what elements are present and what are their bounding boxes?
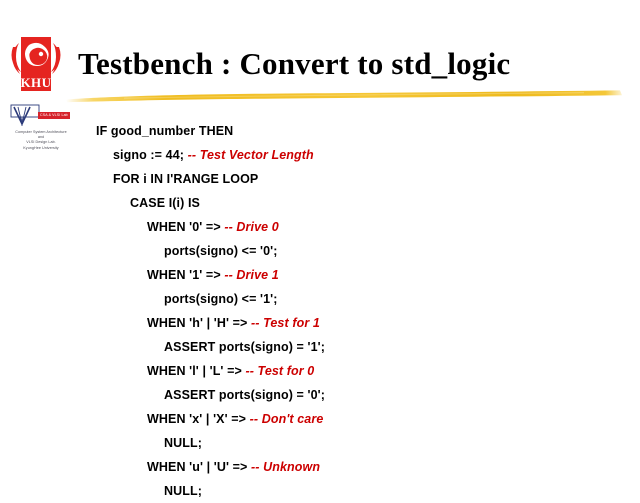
code-line: NULL; (96, 431, 616, 455)
code-text: WHEN 'h' | 'H' => (147, 316, 251, 330)
code-text: ports(signo) <= '1'; (164, 292, 278, 306)
khu-logo: KHU (9, 33, 71, 95)
code-line: WHEN 'x' | 'X' => -- Don't care (96, 407, 616, 431)
code-text: ASSERT ports(signo) = '0'; (164, 388, 325, 402)
lab-mark-icon: CSA & VLSI Lab (8, 104, 70, 128)
code-line: CASE I(i) IS (96, 191, 616, 215)
svg-text:KHU: KHU (20, 75, 51, 90)
code-line: WHEN 'l' | 'L' => -- Test for 0 (96, 359, 616, 383)
lab-logo: CSA & VLSI Lab Computer System Architect… (8, 104, 74, 154)
slide-canvas: KHU CSA & VLSI Lab Computer System Archi… (0, 0, 640, 480)
code-text: NULL; (164, 436, 202, 450)
code-line: ports(signo) <= '1'; (96, 287, 616, 311)
lab-caption-line-4: KyungHee University (8, 146, 74, 151)
title-underline-rule (64, 88, 626, 103)
code-line: ASSERT ports(signo) = '0'; (96, 383, 616, 407)
code-text: ports(signo) <= '0'; (164, 244, 278, 258)
code-comment: -- Unknown (251, 460, 320, 474)
code-line: ASSERT ports(signo) = '1'; (96, 335, 616, 359)
code-text: WHEN '1' => (147, 268, 224, 282)
code-line: ports(signo) <= '0'; (96, 239, 616, 263)
code-text: NULL; (164, 484, 202, 498)
slide-title: Testbench : Convert to std_logic (78, 45, 628, 83)
code-block: IF good_number THEN signo := 44; -- Test… (96, 119, 616, 503)
code-line: WHEN 'h' | 'H' => -- Test for 1 (96, 311, 616, 335)
code-line: WHEN '0' => -- Drive 0 (96, 215, 616, 239)
code-comment: -- Test for 0 (245, 364, 314, 378)
code-comment: -- Don't care (250, 412, 324, 426)
lab-caption: Computer System Architecture and VLSI De… (8, 130, 74, 151)
code-text: CASE I(i) IS (130, 196, 200, 210)
code-text: ASSERT ports(signo) = '1'; (164, 340, 325, 354)
code-comment: -- Test for 1 (251, 316, 320, 330)
code-line: signo := 44; -- Test Vector Length (96, 143, 616, 167)
code-text: FOR i IN I'RANGE LOOP (113, 172, 258, 186)
khu-emblem-icon: KHU (9, 33, 71, 95)
code-text: WHEN 'u' | 'U' => (147, 460, 251, 474)
code-line: IF good_number THEN (96, 119, 616, 143)
code-line: WHEN '1' => -- Drive 1 (96, 263, 616, 287)
code-comment: -- Test Vector Length (188, 148, 314, 162)
code-text: IF good_number THEN (96, 124, 233, 138)
code-text: WHEN 'x' | 'X' => (147, 412, 250, 426)
code-comment: -- Drive 0 (224, 220, 279, 234)
code-line: WHEN 'u' | 'U' => -- Unknown (96, 455, 616, 479)
code-text: WHEN '0' => (147, 220, 224, 234)
code-line: FOR i IN I'RANGE LOOP (96, 167, 616, 191)
code-line: NULL; (96, 479, 616, 503)
code-text: WHEN 'l' | 'L' => (147, 364, 245, 378)
lab-badge: CSA & VLSI Lab (38, 112, 70, 119)
code-comment: -- Drive 1 (224, 268, 279, 282)
code-text: signo := 44; (113, 148, 188, 162)
